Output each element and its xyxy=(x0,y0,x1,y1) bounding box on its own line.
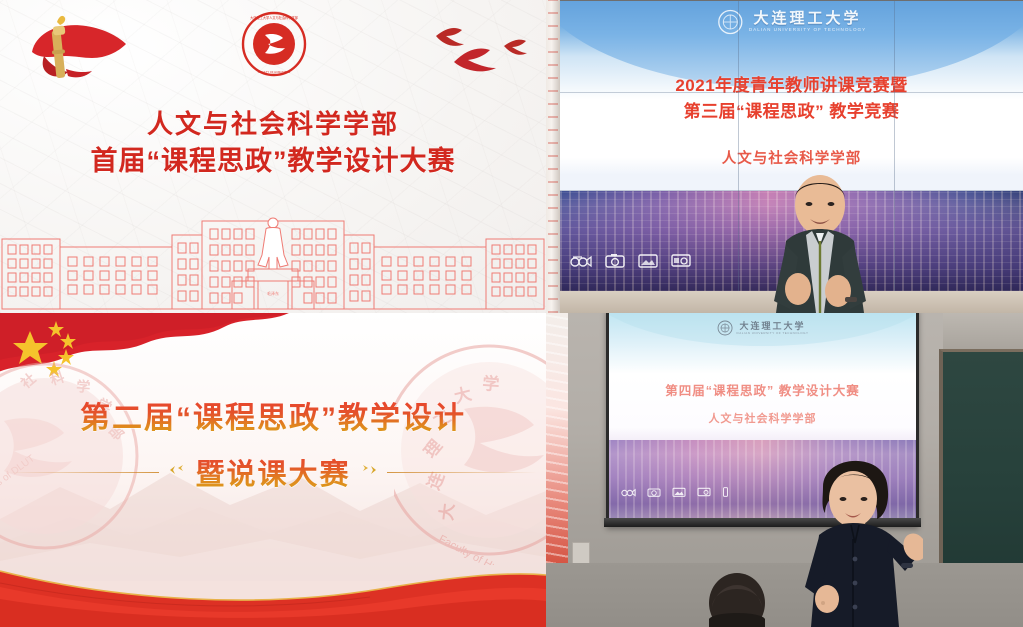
poster2-title-block: 第二届“课程思政”教学设计 暨说课大赛 xyxy=(0,401,546,493)
campus-building-line-art: 毛泽东 xyxy=(0,213,546,313)
male-speaker-photo xyxy=(746,171,894,313)
audience-member-head xyxy=(706,567,768,627)
dut-logo-cn: 大连理工大学 xyxy=(753,11,861,26)
dut-logo-en: DALIAN UNIVERSITY OF TECHNOLOGY xyxy=(737,332,809,335)
film-icon xyxy=(671,253,691,273)
photo-camera-icon xyxy=(647,484,661,502)
dut-logo: 大连理工大学 DALIAN UNIVERSITY OF TECHNOLOGY xyxy=(717,9,866,35)
poster-title-block: 人文与社会科学学部 首届“课程思政”教学设计大赛 xyxy=(0,108,546,179)
faculty-seal-icon: 大连理工大学人文与社会科学学部 FACULTY OF HUMANITIES xyxy=(241,11,307,77)
videowall-seam-vertical-1 xyxy=(738,1,739,291)
poster-title-line2: 首届“课程思政”教学设计大赛 xyxy=(0,144,546,179)
svg-text:大连理工大学人文与社会科学学部: 大连理工大学人文与社会科学学部 xyxy=(250,15,299,20)
picture-icon xyxy=(638,253,658,273)
svg-text:学: 学 xyxy=(482,373,500,394)
svg-text:毛泽东: 毛泽东 xyxy=(267,290,279,296)
svg-text:学: 学 xyxy=(76,378,91,395)
classroom-floor xyxy=(546,563,1023,627)
slide-title: 第四届“课程思政” 教学设计大赛 xyxy=(609,380,916,399)
picture-icon xyxy=(672,484,686,502)
svg-text:FACULTY OF HUMANITIES: FACULTY OF HUMANITIES xyxy=(258,70,291,74)
dut-logo: 大连理工大学 DALIAN UNIVERSITY OF TECHNOLOGY xyxy=(717,320,809,336)
slide-icon-row xyxy=(621,484,729,502)
left-wall-strip xyxy=(546,0,560,313)
dut-ring-icon xyxy=(717,320,733,336)
slide-icon-row xyxy=(570,253,691,273)
dut-logo-en: DALIAN UNIVERSITY OF TECHNOLOGY xyxy=(749,28,866,33)
sparkle-left-icon xyxy=(167,462,187,483)
film-icon xyxy=(697,484,711,502)
dut-logo-cn: 大连理工大学 xyxy=(739,322,805,331)
red-ribbon-footer xyxy=(0,549,546,627)
phone-icon xyxy=(722,484,729,502)
poster2-title-line2-row: 暨说课大赛 xyxy=(0,451,546,493)
slide-subtitle: 人文与社会科学学部 xyxy=(560,147,1023,168)
panel-fourth-contest-photo[interactable]: 大连理工大学 DALIAN UNIVERSITY OF TECHNOLOGY 第… xyxy=(546,313,1023,627)
poster-title-line1: 人文与社会科学学部 xyxy=(0,108,546,141)
poster2-title-line1: 第二届“课程思政”教学设计 xyxy=(0,401,546,437)
torch-and-flag-emblem xyxy=(14,12,130,92)
video-camera-icon xyxy=(621,484,636,502)
video-camera-icon xyxy=(570,253,592,273)
flying-doves-icon xyxy=(432,18,540,76)
videowall-seam-vertical-2 xyxy=(894,1,895,291)
photo-camera-icon xyxy=(605,253,625,273)
slide-subtitle: 人文与社会科学学部 xyxy=(609,410,916,426)
green-chalkboard xyxy=(939,349,1023,568)
slide-title-line2: 第三届“课程思政” 教学竞赛 xyxy=(560,99,1023,125)
panel-2021-competition-photo[interactable]: 大连理工大学 DALIAN UNIVERSITY OF TECHNOLOGY 2… xyxy=(546,0,1023,313)
sparkle-right-icon xyxy=(359,462,379,483)
title-rule-left xyxy=(9,472,159,473)
svg-text:大: 大 xyxy=(436,502,458,521)
panel-first-contest-poster[interactable]: 大连理工大学人文与社会科学学部 FACULTY OF HUMANITIES 人文… xyxy=(0,0,546,313)
videowall-seam-horizontal-1 xyxy=(560,92,1023,93)
female-speaker-photo xyxy=(793,447,923,627)
board-upper-wall xyxy=(943,313,1023,349)
photo-collage: 大连理工大学人文与社会科学学部 FACULTY OF HUMANITIES 人文… xyxy=(0,0,1023,627)
slide-title: 2021年度青年教师讲课竞赛暨 第三届“课程思政” 教学竞赛 xyxy=(560,73,1023,126)
title-rule-right xyxy=(387,472,537,473)
panel-second-contest-poster[interactable]: 社 科 学 学 部 Sciences of DLUT 大 连 理 xyxy=(0,313,546,627)
slide-title-line1: 2021年度青年教师讲课竞赛暨 xyxy=(560,73,1023,99)
poster2-title-line2: 暨说课大赛 xyxy=(195,451,350,493)
